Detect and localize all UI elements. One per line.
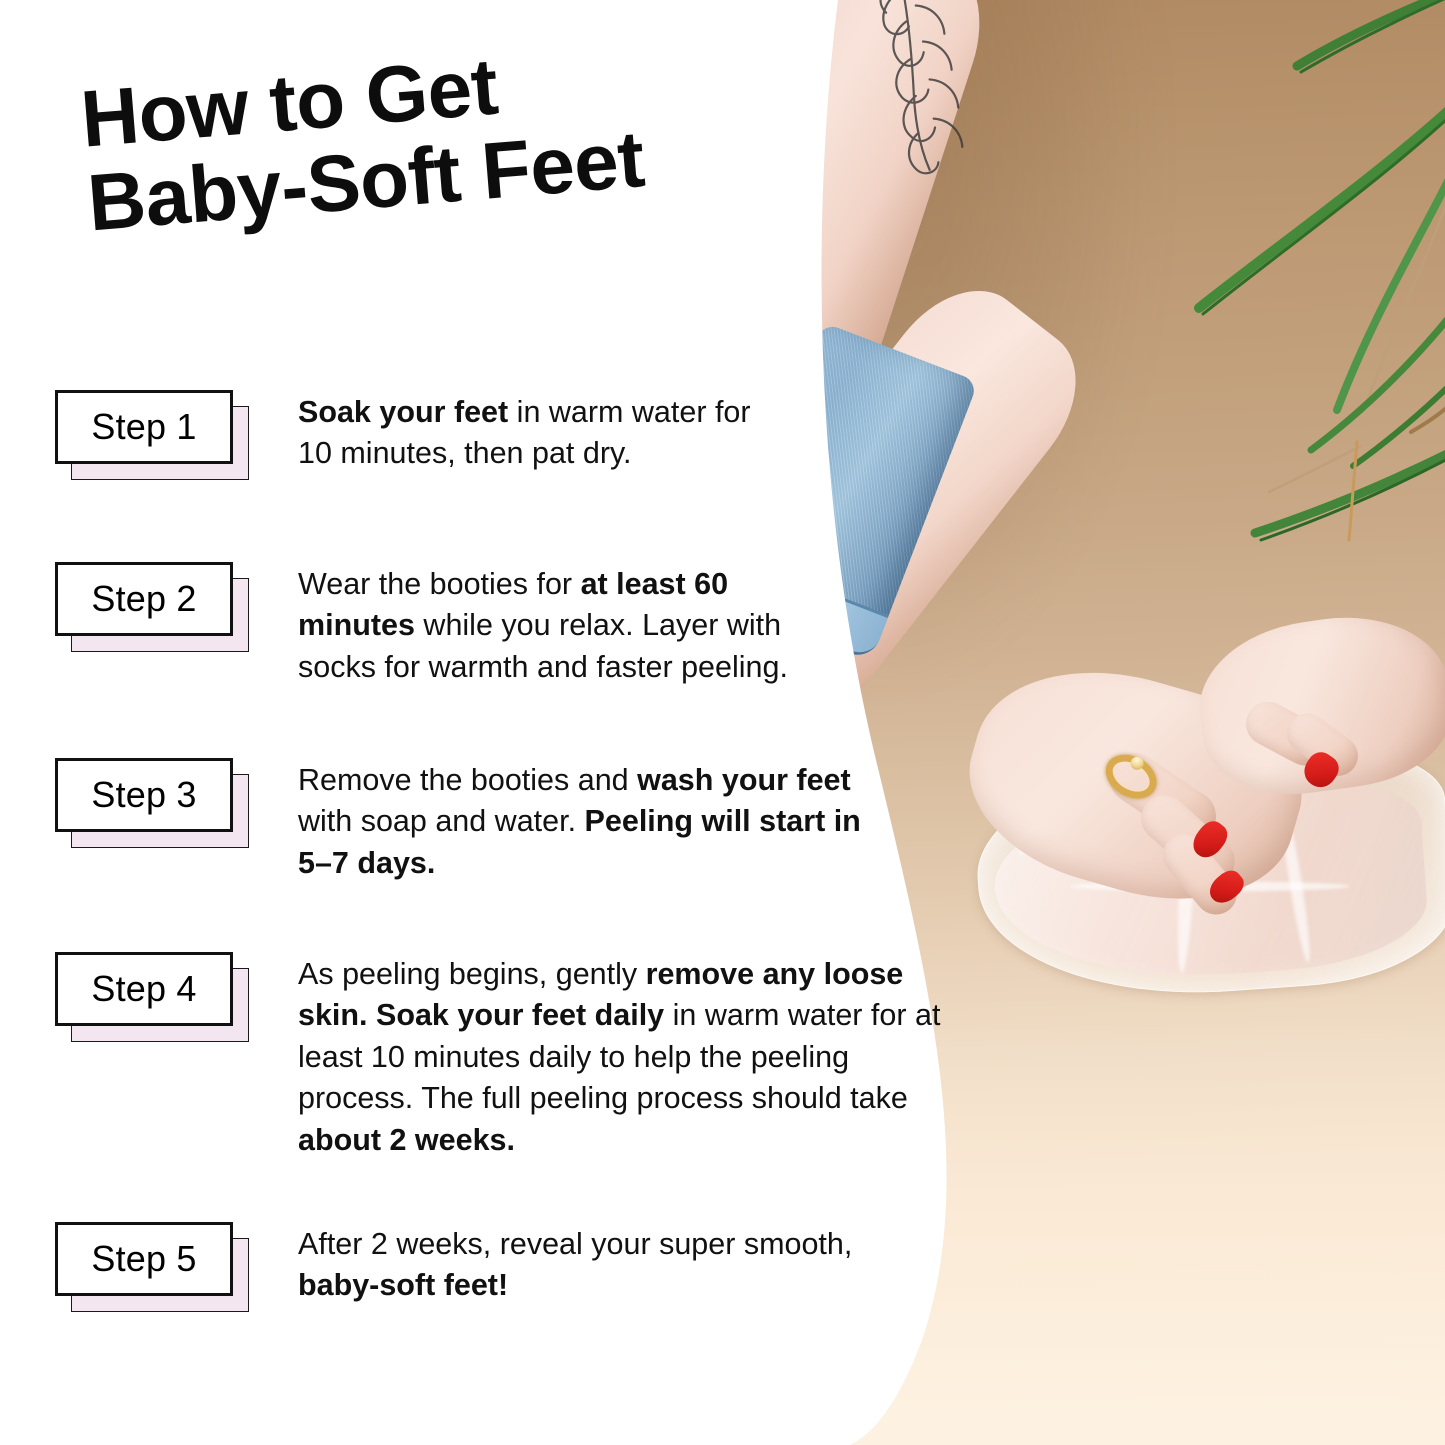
- step-badge-label: Step 3: [55, 758, 233, 832]
- step-badge: Step 3: [55, 758, 255, 854]
- step-plain-text: Wear the booties for: [298, 567, 581, 601]
- step-bold-text: Soak your feet: [298, 395, 508, 429]
- step-plain-text: with soap and water.: [298, 804, 585, 838]
- step-description: Remove the booties and wash your feet wi…: [298, 760, 868, 884]
- step-plain-text: As peeling begins, gently: [298, 957, 646, 991]
- step-badge: Step 4: [55, 952, 255, 1048]
- step-badge: Step 2: [55, 562, 255, 658]
- step-badge-label: Step 4: [55, 952, 233, 1026]
- infographic-poster: How to Get Baby-Soft Feet Step 1 Soak yo…: [0, 0, 1445, 1445]
- step-bold-text: about 2 weeks.: [298, 1123, 515, 1157]
- step-badge: Step 1: [55, 390, 255, 486]
- step-bold-text: baby-soft feet!: [298, 1268, 508, 1302]
- step-bold-text: wash your feet: [637, 763, 851, 797]
- step-description: Wear the booties for at least 60 minutes…: [298, 564, 843, 688]
- step-plain-text: Remove the booties and: [298, 763, 637, 797]
- step-badge: Step 5: [55, 1222, 255, 1318]
- step-badge-label: Step 5: [55, 1222, 233, 1296]
- page-title: How to Get Baby-Soft Feet: [78, 22, 789, 246]
- step-description: As peeling begins, gently remove any loo…: [298, 954, 958, 1161]
- step-description: After 2 weeks, reveal your super smooth,…: [298, 1224, 938, 1307]
- step-badge-label: Step 1: [55, 390, 233, 464]
- step-description: Soak your feet in warm water for 10 minu…: [298, 392, 768, 475]
- step-plain-text: After 2 weeks, reveal your super smooth,: [298, 1227, 852, 1261]
- step-badge-label: Step 2: [55, 562, 233, 636]
